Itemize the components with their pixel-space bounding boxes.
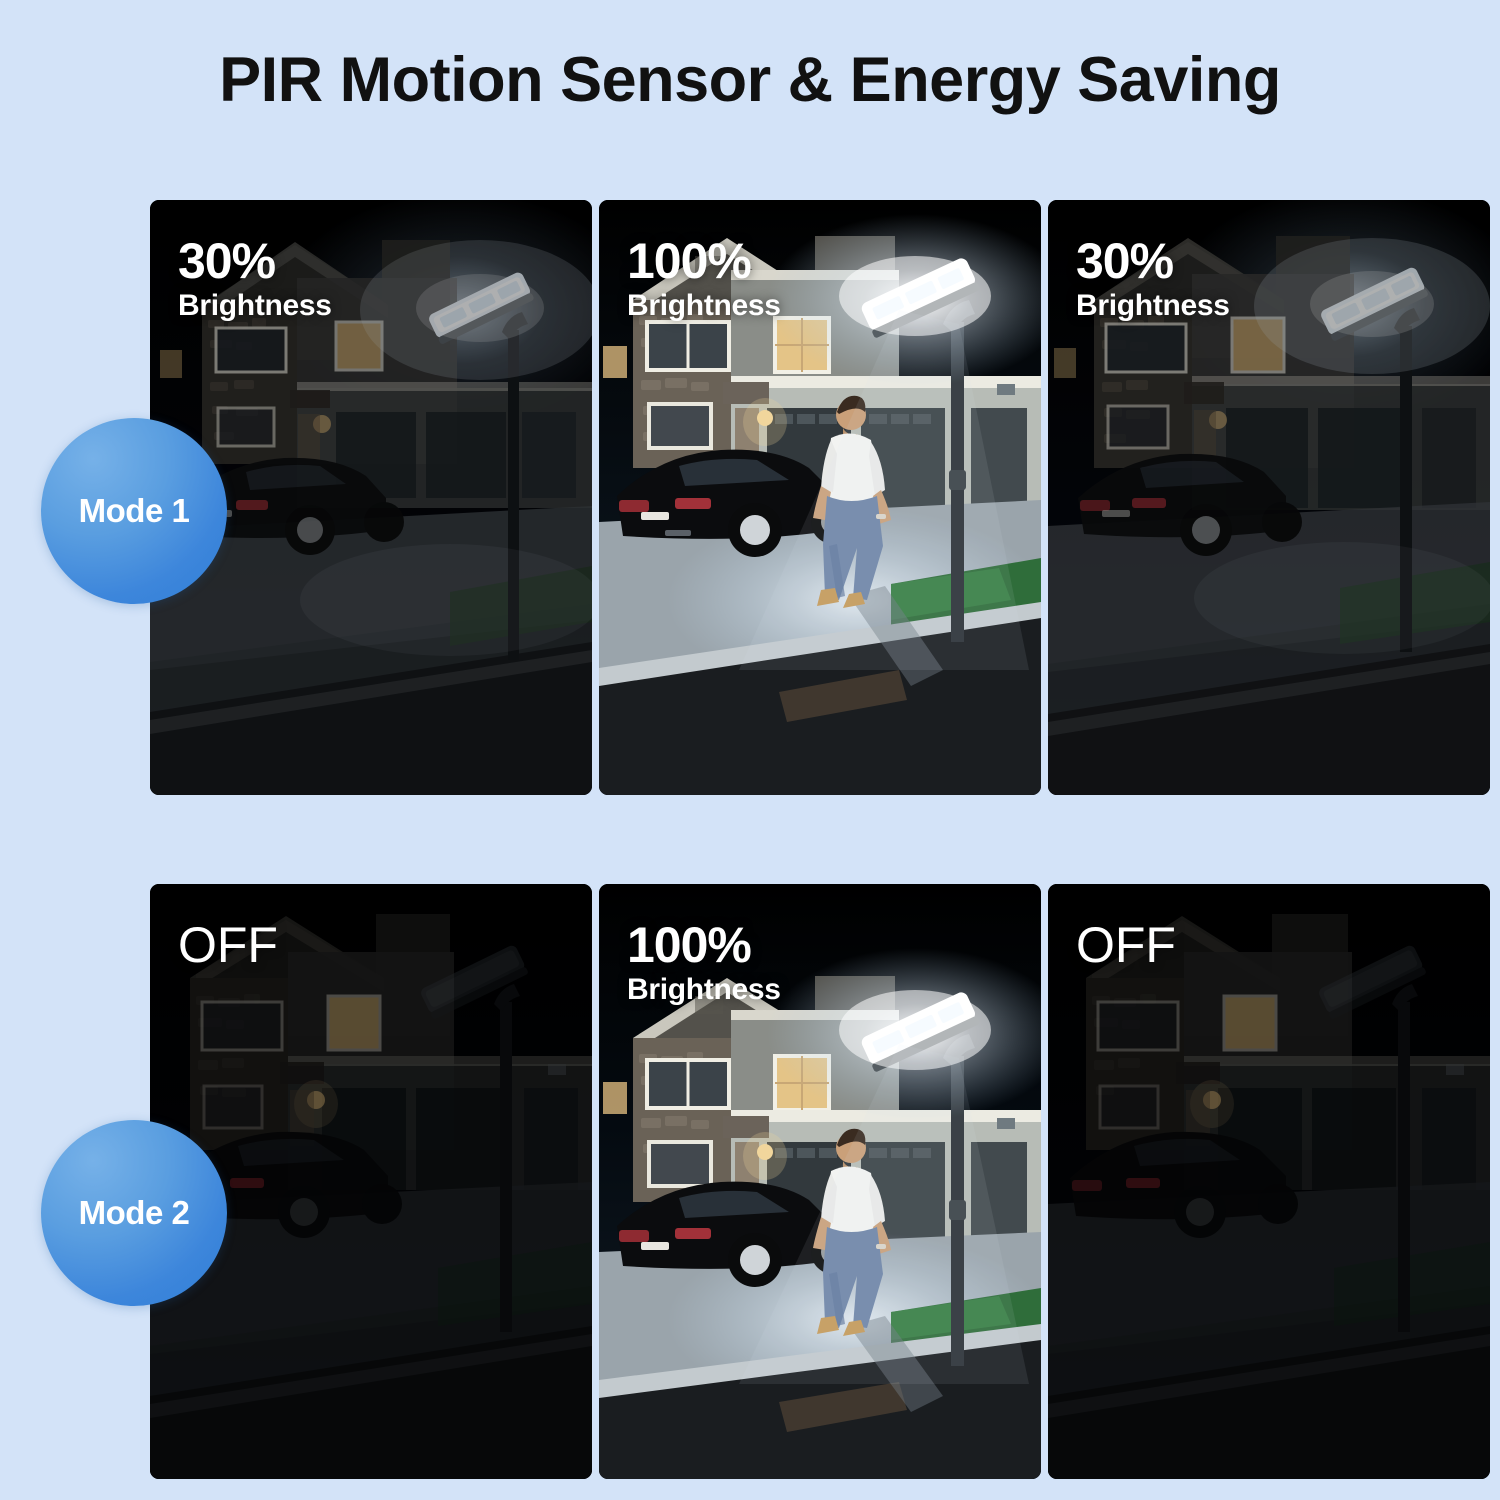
product-feature-graphic: PIR Motion Sensor & Energy Saving: [0, 0, 1500, 1500]
panel-mode2-off-right: OFF: [1048, 884, 1490, 1479]
brightness-value: OFF: [1076, 920, 1176, 971]
brightness-caption: Brightness: [627, 291, 781, 322]
panel-label: OFF: [178, 920, 278, 975]
panel-label: 100% Brightness: [627, 236, 781, 322]
brightness-value: 30%: [1076, 236, 1230, 287]
panel-mode2-bright-center: 100% Brightness: [599, 884, 1041, 1479]
mode-1-badge-label: Mode 1: [79, 492, 190, 530]
brightness-caption: Brightness: [178, 291, 332, 322]
panel-label: 30% Brightness: [178, 236, 332, 322]
mode-1-badge: Mode 1: [41, 418, 227, 604]
mode-2-panel-row: OFF: [150, 884, 1490, 1479]
brightness-caption: Brightness: [1076, 291, 1230, 322]
panel-mode1-dim-right: 30% Brightness: [1048, 200, 1490, 795]
mode-1-panel-row: 30% Brightness: [150, 200, 1490, 795]
brightness-value: 100%: [627, 920, 781, 971]
brightness-value: 100%: [627, 236, 781, 287]
panel-label: OFF: [1076, 920, 1176, 975]
mode-2-badge-label: Mode 2: [79, 1194, 190, 1232]
panel-label: 100% Brightness: [627, 920, 781, 1006]
panel-label: 30% Brightness: [1076, 236, 1230, 322]
brightness-value: OFF: [178, 920, 278, 971]
brightness-caption: Brightness: [627, 975, 781, 1006]
mode-2-badge: Mode 2: [41, 1120, 227, 1306]
panel-mode1-bright-center: 100% Brightness: [599, 200, 1041, 795]
brightness-value: 30%: [178, 236, 332, 287]
page-title: PIR Motion Sensor & Energy Saving: [0, 44, 1500, 116]
